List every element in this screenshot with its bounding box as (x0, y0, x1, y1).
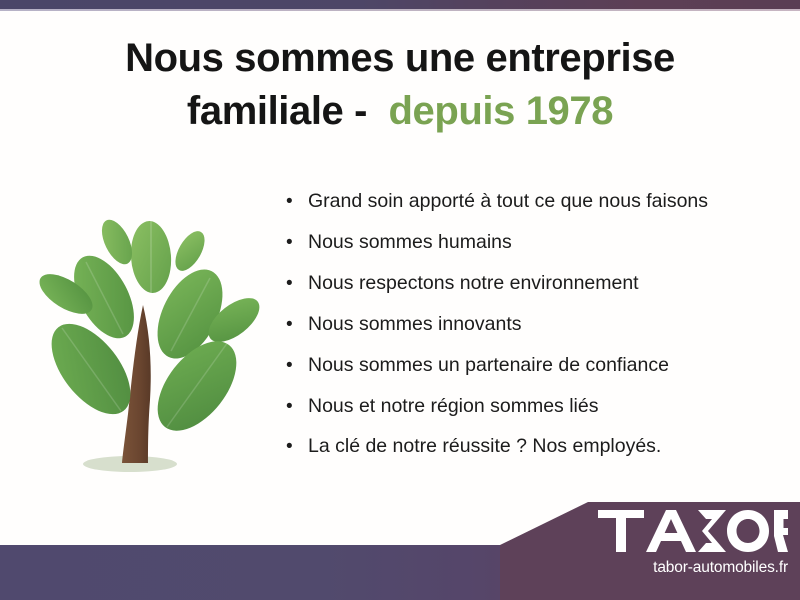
bullet-marker-icon: • (286, 396, 308, 418)
heading-line-2-plain: familiale - (187, 89, 389, 133)
logo-letter-a (646, 510, 696, 552)
slide-heading: Nous sommes une entreprise familiale - d… (0, 32, 800, 138)
list-item: • Nous et notre région sommes liés (286, 395, 786, 418)
list-item-label: Nous et notre région sommes liés (308, 395, 786, 418)
leaf-top-right-small (169, 226, 210, 275)
list-item: • Nous sommes innovants (286, 313, 786, 336)
list-item-label: Nous sommes un partenaire de confiance (308, 354, 786, 377)
bullet-marker-icon: • (286, 191, 308, 213)
list-item-label: Nous sommes humains (308, 231, 786, 254)
logo-letter-r (774, 510, 788, 552)
logo-letter-t (598, 510, 644, 552)
logo-letter-b (698, 510, 726, 552)
heading-line-2: familiale - depuis 1978 (0, 85, 800, 138)
list-item-label: Nous respectons notre environnement (308, 272, 786, 295)
bullet-marker-icon: • (286, 314, 308, 336)
bullet-marker-icon: • (286, 232, 308, 254)
top-accent-hairline (0, 9, 800, 11)
list-item-label: La clé de notre réussite ? Nos employés. (308, 435, 786, 458)
tree-leaves (33, 215, 267, 445)
list-item-label: Grand soin apporté à tout ce que nous fa… (308, 190, 786, 213)
list-item-label: Nous sommes innovants (308, 313, 786, 336)
tabor-wordmark-logo (598, 508, 788, 554)
benefits-list: • Grand soin apporté à tout ce que nous … (286, 190, 786, 459)
logo-panel-corner (582, 502, 596, 516)
logo-tagline: tabor-automobiles.fr (598, 559, 788, 577)
slide-canvas: Nous sommes une entreprise familiale - d… (0, 0, 800, 600)
heading-accent-depuis: depuis 1978 (388, 89, 613, 133)
list-item: • Grand soin apporté à tout ce que nous … (286, 190, 786, 213)
top-accent-bar (0, 0, 800, 9)
list-item: • Nous respectons notre environnement (286, 272, 786, 295)
bullet-marker-icon: • (286, 436, 308, 458)
list-item: • La clé de notre réussite ? Nos employé… (286, 435, 786, 458)
heading-line-1: Nous sommes une entreprise (0, 32, 800, 85)
tree-illustration (24, 186, 276, 486)
list-item: • Nous sommes un partenaire de confiance (286, 354, 786, 377)
logo-letter-o (727, 510, 769, 552)
bullet-marker-icon: • (286, 273, 308, 295)
list-item: • Nous sommes humains (286, 231, 786, 254)
bullet-marker-icon: • (286, 355, 308, 377)
